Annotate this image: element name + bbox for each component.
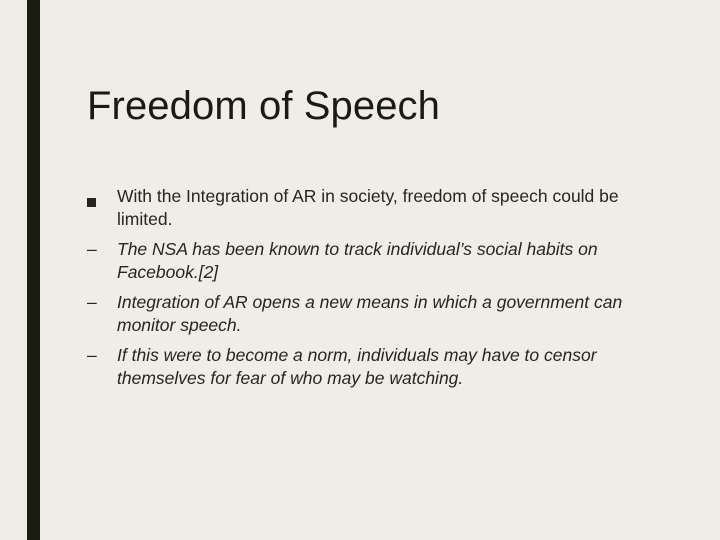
slide-canvas: Freedom of Speech With the Integration o… bbox=[0, 0, 720, 540]
list-item: With the Integration of AR in society, f… bbox=[87, 185, 649, 231]
dash-bullet-icon: – bbox=[87, 291, 113, 314]
bullet-list: With the Integration of AR in society, f… bbox=[87, 185, 649, 397]
list-item-text: With the Integration of AR in society, f… bbox=[117, 185, 649, 231]
dash-bullet-icon: – bbox=[87, 238, 113, 261]
list-item-text: The NSA has been known to track individu… bbox=[117, 238, 649, 284]
page-title: Freedom of Speech bbox=[87, 82, 667, 130]
dash-bullet-icon: – bbox=[87, 344, 113, 367]
list-item-text: Integration of AR opens a new means in w… bbox=[117, 291, 649, 337]
square-bullet-icon bbox=[87, 190, 113, 213]
list-item-text: If this were to become a norm, individua… bbox=[117, 344, 649, 390]
list-item: – If this were to become a norm, individ… bbox=[87, 344, 649, 390]
list-item: – The NSA has been known to track indivi… bbox=[87, 238, 649, 284]
list-item: – Integration of AR opens a new means in… bbox=[87, 291, 649, 337]
left-accent-bar bbox=[27, 0, 40, 540]
